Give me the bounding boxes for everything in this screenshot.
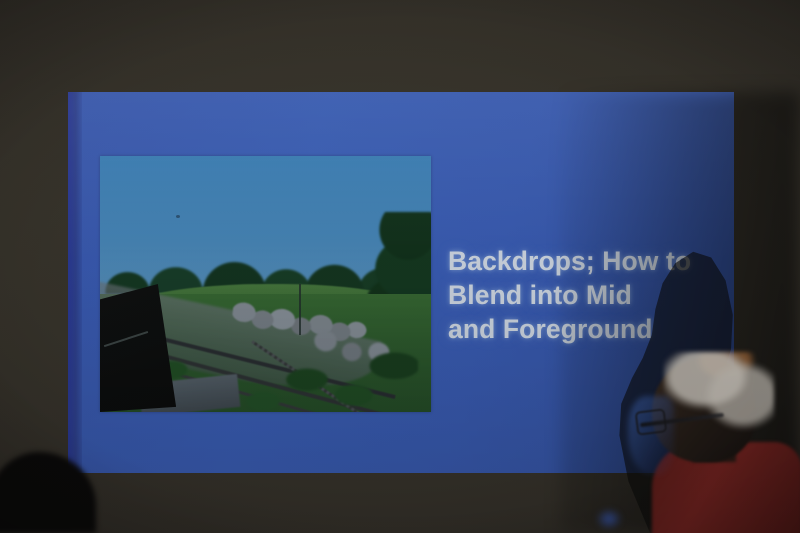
- projection-scene: Backdrops; How to Blend into Mid and For…: [0, 0, 800, 533]
- photo-sky-speck: [176, 215, 180, 218]
- presenter: [628, 352, 800, 533]
- slide-photo: [100, 156, 431, 412]
- stray-blue-light: [592, 505, 626, 533]
- presenter-hair: [664, 352, 774, 436]
- slide-left-edge-band: [68, 92, 82, 473]
- photo-utility-pole: [299, 284, 301, 335]
